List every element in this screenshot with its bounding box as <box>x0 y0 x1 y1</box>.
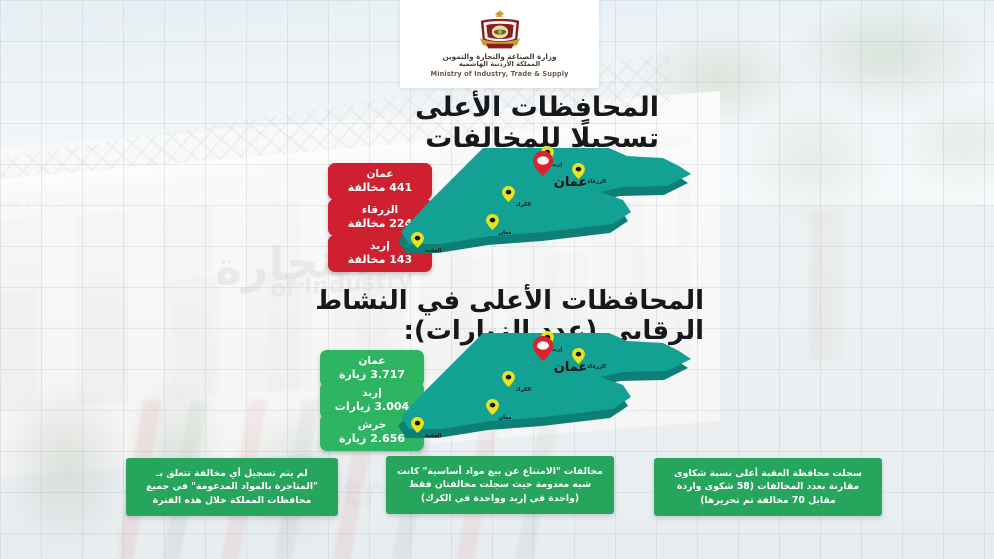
map-marker-label-عمان: عمان <box>554 175 588 190</box>
infographic-canvas: التجارة of Industry ustry وزارة الصناعة … <box>0 0 994 559</box>
map-marker-label-إربد: إربد <box>552 347 562 353</box>
jordan-map-inspections: إربدالزرقاءعمانالكركمعانالعقبة <box>395 325 695 455</box>
map-marker-pin-city <box>502 371 515 387</box>
map-marker-pin-city <box>486 399 499 415</box>
map-marker-label-معان: معان <box>499 230 512 236</box>
map-marker-label-الزرقاء: الزرقاء <box>587 179 606 185</box>
note-essential-goods: مخالفات "الامتناع عن بيع مواد أساسية" كا… <box>386 456 614 514</box>
map-marker-pin-city <box>486 214 499 230</box>
map-marker-pin-city <box>502 186 515 202</box>
note-aqaba-complaints: سجلت محافظة العقبة أعلى نسبة شكاوى مقارن… <box>654 458 882 516</box>
map-marker-label-العقبة: العقبة <box>425 433 441 439</box>
map-marker-label-الكرك: الكرك <box>516 387 531 393</box>
ministry-logo-card: وزارة الصناعة والتجارة والتموين المملكة … <box>400 0 599 88</box>
logo-arabic-line-2: المملكة الأردنية الهاشمية <box>459 61 540 68</box>
map-marker-label-معان: معان <box>499 415 512 421</box>
map-marker-label-عمان: عمان <box>554 360 588 375</box>
map-marker-label-العقبة: العقبة <box>425 248 441 254</box>
map-marker-label-الزرقاء: الزرقاء <box>587 364 606 370</box>
map-marker-label-الكرك: الكرك <box>516 202 531 208</box>
logo-english-line: Ministry of Industry, Trade & Supply <box>431 70 569 78</box>
jordan-coat-of-arms-icon <box>472 10 528 52</box>
map-marker-pin-capital <box>533 151 553 176</box>
map-marker-pin-city <box>411 417 424 433</box>
map-marker-label-إربد: إربد <box>552 162 562 168</box>
jordan-map-violations: إربدالزرقاءعمانالكركمعانالعقبة <box>395 140 695 270</box>
map-marker-pin-capital <box>533 336 553 361</box>
map-marker-pin-city <box>411 232 424 248</box>
note-subsidized-goods: لم يتم تسجيل أي مخالفة تتعلق بـ "المتاجر… <box>126 458 338 516</box>
